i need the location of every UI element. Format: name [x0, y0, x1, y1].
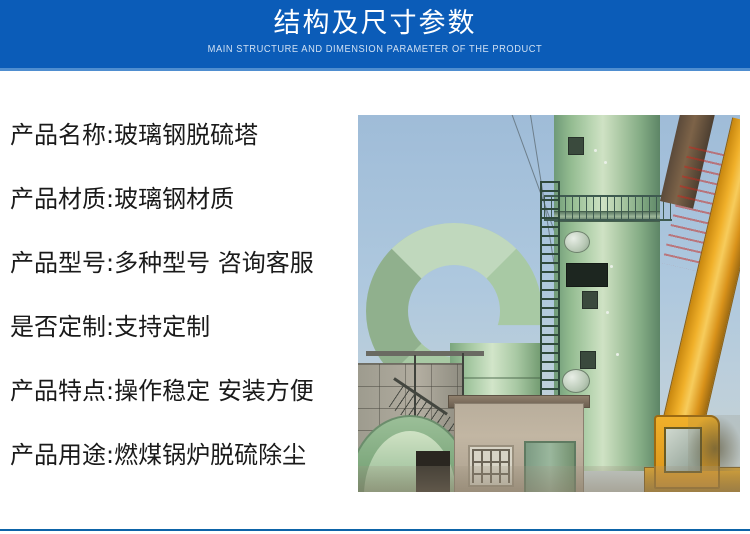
footer-divider-rule — [0, 529, 750, 531]
background-trees — [688, 415, 740, 471]
product-photo-scene — [358, 115, 740, 492]
steel-platform — [366, 351, 484, 356]
spec-row-customizable: 是否定制:支持定制 — [10, 295, 355, 359]
tower-inlet-duct — [566, 263, 608, 287]
tower-support-bracket — [568, 137, 584, 155]
tower-manhole-cover — [562, 369, 590, 393]
spec-row-product-name: 产品名称:玻璃钢脱硫塔 — [10, 103, 355, 167]
tower-access-railing — [544, 195, 672, 221]
ground-haze — [358, 466, 740, 492]
tower-manhole-cover — [564, 231, 590, 253]
product-photo — [358, 115, 740, 492]
tower-bolt — [610, 265, 613, 268]
spec-row-product-usage: 产品用途:燃煤锅炉脱硫除尘 — [10, 423, 355, 487]
page-subtitle: MAIN STRUCTURE AND DIMENSION PARAMETER O… — [26, 40, 724, 56]
spec-row-product-features: 产品特点:操作稳定 安装方便 — [10, 359, 355, 423]
tower-support-bracket — [580, 351, 596, 369]
tower-bolt — [594, 149, 597, 152]
tower-bolt — [606, 311, 609, 314]
page-header-banner: 结构及尺寸参数 MAIN STRUCTURE AND DIMENSION PAR… — [0, 0, 750, 68]
product-spec-list: 产品名称:玻璃钢脱硫塔 产品材质:玻璃钢材质 产品型号:多种型号 咨询客服 是否… — [10, 103, 355, 487]
content-area: 产品名称:玻璃钢脱硫塔 产品材质:玻璃钢材质 产品型号:多种型号 咨询客服 是否… — [0, 71, 750, 526]
spec-row-product-material: 产品材质:玻璃钢材质 — [10, 167, 355, 231]
page-title: 结构及尺寸参数 — [0, 0, 750, 40]
tower-support-bracket — [582, 291, 598, 309]
tower-bolt — [604, 161, 607, 164]
spec-row-product-model: 产品型号:多种型号 咨询客服 — [10, 231, 355, 295]
tower-bolt — [616, 353, 619, 356]
